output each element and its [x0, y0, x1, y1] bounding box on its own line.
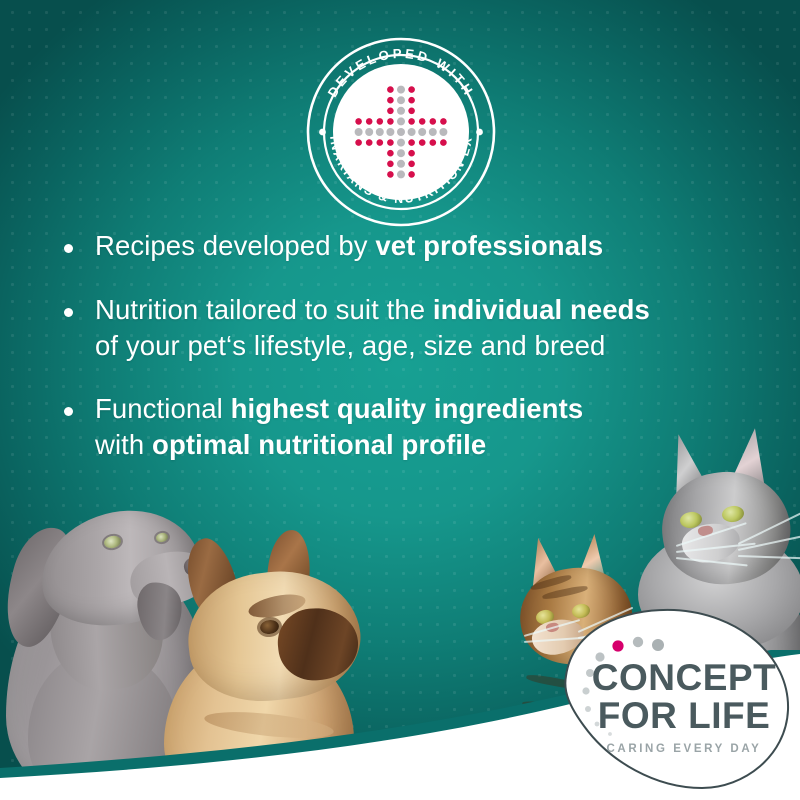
cross-dot — [429, 128, 437, 136]
cross-dot — [386, 128, 394, 136]
benefits-list: Recipes developed by vet professionalsNu… — [64, 228, 764, 491]
badge-svg: DEVELOPED WITH VETERINARIANS & NUTRITION… — [305, 36, 497, 228]
cross-dot — [366, 139, 373, 146]
cross-dot — [418, 128, 426, 136]
french-bulldog-image — [148, 550, 408, 800]
cross-dot — [397, 128, 405, 136]
cross-dot — [387, 108, 394, 115]
logo-tagline: CARING EVERY DAY — [607, 743, 762, 755]
benefit-text-line: with optimal nutritional profile — [95, 427, 583, 463]
cross-dot — [387, 118, 394, 125]
bullet-marker-icon — [64, 308, 73, 317]
cross-dot — [376, 128, 384, 136]
benefit-text-emphasis: vet professionals — [375, 230, 603, 261]
concept-for-life-logo: CONCEPT FOR LIFE CARING EVERY DAY — [552, 606, 796, 792]
cross-dot — [439, 128, 447, 136]
benefit-text: Functional highest quality ingredientswi… — [95, 391, 583, 463]
cross-dot — [408, 139, 415, 146]
cross-dot — [377, 139, 384, 146]
cross-dot — [355, 118, 362, 125]
benefit-text-line: Recipes developed by vet professionals — [95, 228, 603, 264]
benefit-text-emphasis: optimal nutritional profile — [152, 429, 486, 460]
logo-dot — [585, 706, 591, 712]
benefit-text-plain: Functional — [95, 393, 231, 424]
cross-dot — [408, 86, 415, 93]
cross-dot — [408, 108, 415, 115]
benefit-text-plain: Recipes developed by — [95, 230, 375, 261]
cross-dot — [419, 139, 426, 146]
benefit-item: Recipes developed by vet professionals — [64, 228, 764, 264]
bullet-marker-icon — [64, 407, 73, 416]
cross-dot — [408, 118, 415, 125]
cross-dot — [397, 107, 405, 115]
cross-dot — [387, 161, 394, 168]
developed-with-vets-badge: DEVELOPED WITH VETERINARIANS & NUTRITION… — [305, 36, 497, 228]
cross-dot — [397, 170, 405, 178]
benefit-text-plain: Nutrition tailored to suit the — [95, 294, 433, 325]
benefit-text-line: Nutrition tailored to suit the individua… — [95, 292, 650, 328]
cross-dot — [397, 86, 405, 94]
cross-dot — [387, 97, 394, 104]
cross-dot — [430, 118, 437, 125]
cross-dot — [440, 139, 447, 146]
cross-dot — [387, 86, 394, 93]
cross-dot — [397, 139, 405, 147]
cross-dot — [355, 128, 363, 136]
promo-poster: DEVELOPED WITH VETERINARIANS & NUTRITION… — [0, 0, 800, 800]
cross-dot — [440, 118, 447, 125]
cross-dot — [387, 150, 394, 157]
cross-dot — [430, 139, 437, 146]
logo-dot — [633, 637, 643, 647]
logo-line2: FOR LIFE — [598, 695, 771, 736]
badge-separator-dot-left — [319, 129, 326, 136]
badge-separator-dot-right — [476, 129, 483, 136]
cross-dot — [365, 128, 373, 136]
cross-dot — [419, 118, 426, 125]
benefit-text-line: Functional highest quality ingredients — [95, 391, 583, 427]
cross-dot — [355, 139, 362, 146]
benefit-text-line: of your pet‘s lifestyle, age, size and b… — [95, 328, 650, 364]
cross-dot — [387, 171, 394, 178]
cross-dot — [397, 149, 405, 157]
logo-line1: CONCEPT — [592, 657, 776, 698]
cross-dot — [408, 150, 415, 157]
cross-dot — [408, 171, 415, 178]
cross-dot — [397, 117, 405, 125]
cross-dot — [408, 97, 415, 104]
benefit-text-emphasis: highest quality ingredients — [231, 393, 584, 424]
logo-dot — [652, 639, 664, 651]
benefit-item: Nutrition tailored to suit the individua… — [64, 292, 764, 364]
cross-dot — [377, 118, 384, 125]
cross-dot — [387, 139, 394, 146]
benefit-text-plain: of your pet‘s lifestyle, age, size and b… — [95, 330, 605, 361]
cross-dot — [366, 118, 373, 125]
logo-svg: CONCEPT FOR LIFE CARING EVERY DAY — [552, 606, 796, 792]
cross-dot — [408, 128, 416, 136]
logo-accent-dot — [612, 640, 623, 651]
bullet-marker-icon — [64, 244, 73, 253]
benefit-text: Nutrition tailored to suit the individua… — [95, 292, 650, 364]
cross-dot — [397, 96, 405, 104]
benefit-text-plain: with — [95, 429, 152, 460]
benefit-text: Recipes developed by vet professionals — [95, 228, 603, 264]
benefit-item: Functional highest quality ingredientswi… — [64, 391, 764, 463]
cross-dot — [397, 160, 405, 168]
logo-dot — [582, 687, 589, 694]
cross-dot — [408, 161, 415, 168]
benefit-text-emphasis: individual needs — [433, 294, 650, 325]
